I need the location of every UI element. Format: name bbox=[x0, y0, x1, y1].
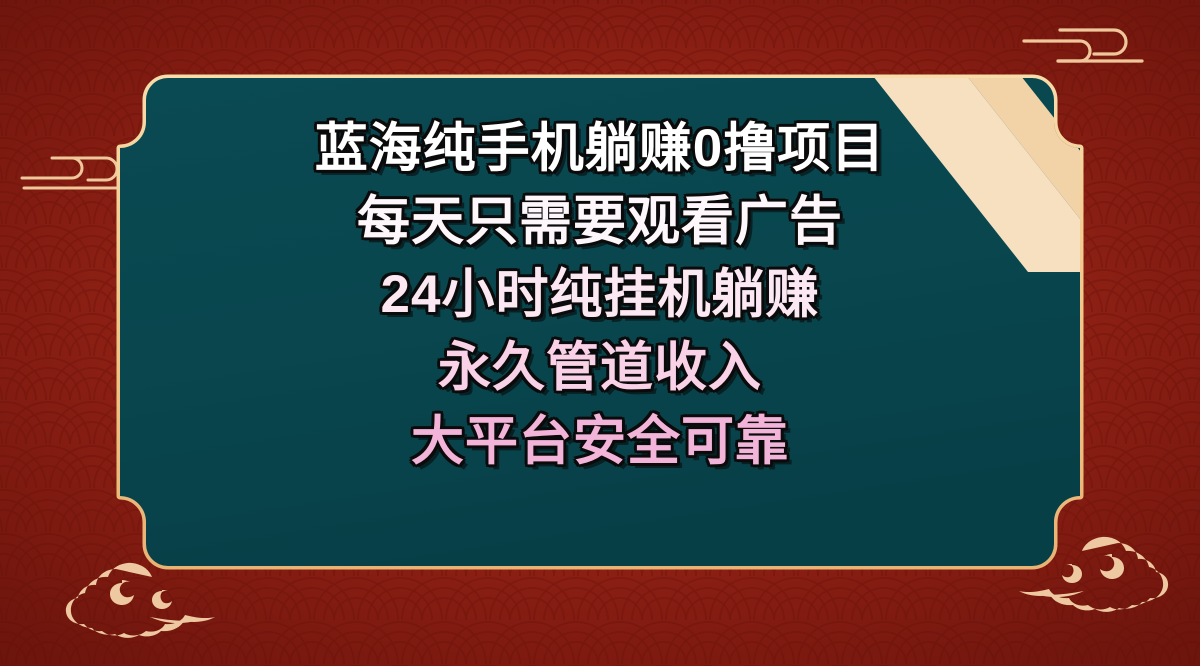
cloud-stripe-icon-top-right bbox=[1002, 18, 1162, 76]
headline-line-1: 蓝海纯手机躺赚0撸项目 bbox=[315, 112, 885, 185]
headline-line-4: 永久管道收入 bbox=[438, 331, 762, 404]
promo-poster: 蓝海纯手机躺赚0撸项目 每天只需要观看广告 24小时纯挂机躺赚 永久管道收入 大… bbox=[0, 0, 1200, 666]
headline-line-2: 每天只需要观看广告 bbox=[357, 185, 843, 258]
headline-line-3: 24小时纯挂机躺赚 bbox=[381, 258, 820, 331]
headline-line-5: 大平台安全可靠 bbox=[411, 405, 789, 478]
content-card: 蓝海纯手机躺赚0撸项目 每天只需要观看广告 24小时纯挂机躺赚 永久管道收入 大… bbox=[112, 72, 1088, 572]
headline-block: 蓝海纯手机躺赚0撸项目 每天只需要观看广告 24小时纯挂机躺赚 永久管道收入 大… bbox=[112, 72, 1088, 572]
